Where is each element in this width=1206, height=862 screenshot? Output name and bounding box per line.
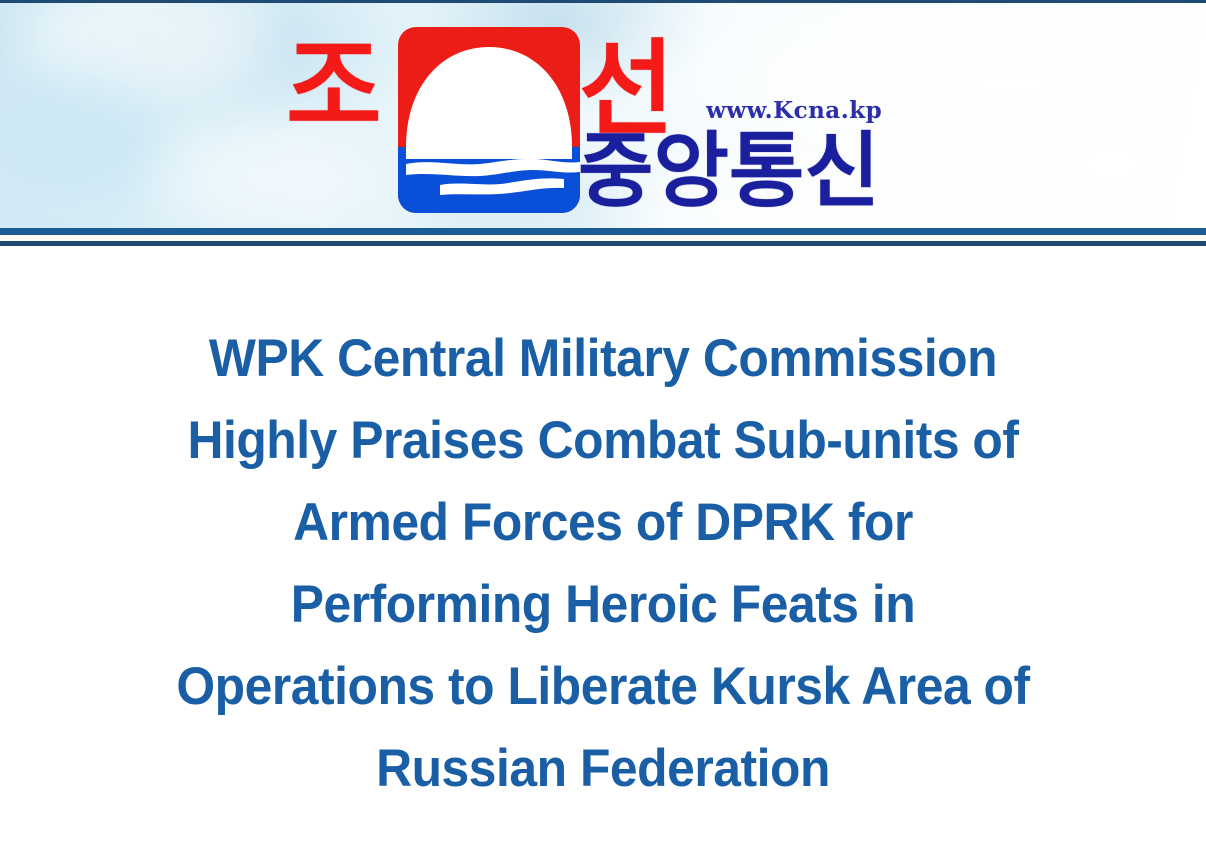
headline-line-1: WPK Central Military Commission: [74, 318, 1132, 400]
sun-over-sea-emblem: [396, 25, 582, 215]
headline-line-2: Highly Praises Combat Sub-units of: [74, 400, 1132, 482]
headline-line-6: Russian Federation: [74, 728, 1132, 810]
article-content: WPK Central Military Commission Highly P…: [0, 246, 1206, 810]
cloud-wisp-6: [0, 73, 160, 193]
logo-hangul-subtitle: 중앙통신: [578, 131, 880, 213]
headline-line-3: Armed Forces of DPRK for: [74, 482, 1132, 564]
headline-line-5: Operations to Liberate Kursk Area of: [74, 646, 1132, 728]
site-header-banner: 조 선 www.Kcna.kp 중앙통신: [0, 3, 1206, 228]
header-divider-thick: [0, 228, 1206, 235]
cloud-wisp-1: [30, 3, 270, 103]
logo-site-url: www.Kcna.kp: [706, 97, 882, 124]
kcna-logo[interactable]: 조 선 www.Kcna.kp 중앙통신: [286, 19, 946, 224]
logo-hangul-jo: 조: [286, 35, 382, 139]
article-headline: WPK Central Military Commission Highly P…: [36, 318, 1170, 810]
headline-line-4: Performing Heroic Feats in: [74, 564, 1132, 646]
